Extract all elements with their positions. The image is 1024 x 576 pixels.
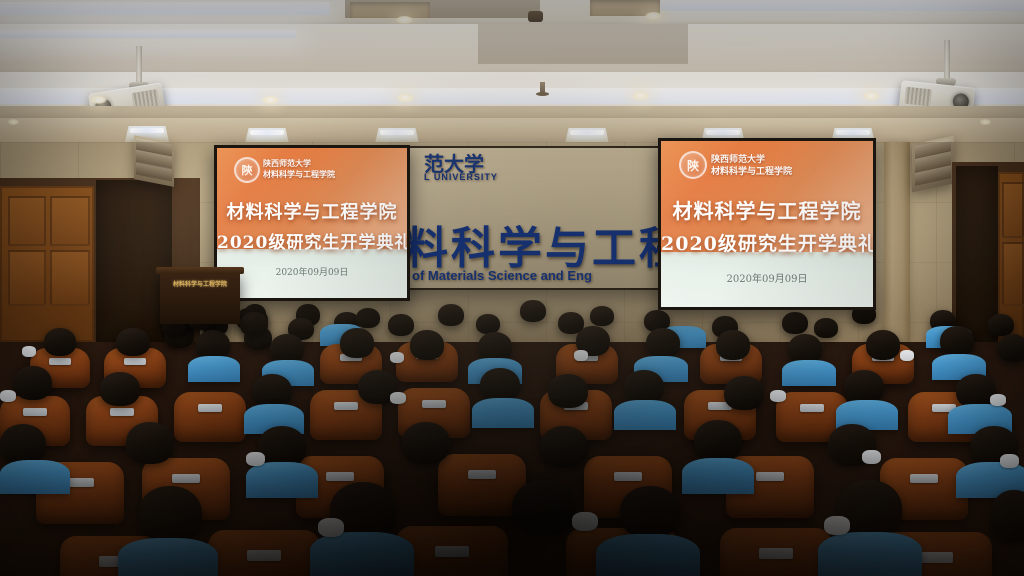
attendee-head	[814, 318, 838, 338]
slide-title-line1: 材料科学与工程学院	[217, 198, 407, 224]
slide-title-line1: 材料科学与工程学院	[661, 195, 873, 224]
face-mask	[390, 392, 406, 404]
university-seal-icon: 陝	[234, 157, 260, 183]
sconce-glow-left	[8, 119, 19, 125]
slide-title-line2: 2020级研究生开学典礼	[217, 228, 407, 253]
right-projection-screen: 陝 陕西师范大学 材料科学与工程学院 材料科学与工程学院 2020级研究生开学典…	[658, 138, 876, 310]
seat-number-plate	[247, 550, 281, 561]
face-mask	[990, 394, 1006, 406]
slide-department-name: 材料科学与工程学院	[711, 164, 792, 177]
ceiling-coffer-a	[350, 2, 430, 18]
attendee-head	[988, 314, 1014, 336]
attendee-head	[520, 300, 546, 322]
ceiling-downlight-3	[397, 94, 414, 102]
attendee-head	[240, 312, 268, 336]
seat-number-plate	[334, 402, 358, 410]
attendee-head	[782, 312, 808, 334]
face-mask	[246, 452, 265, 466]
podium-top-edge	[156, 267, 244, 274]
attendee-head	[252, 374, 292, 408]
sprinkler-icon	[540, 82, 545, 93]
ceiling-strip-light-1	[0, 2, 330, 15]
attendee-head	[402, 422, 450, 464]
attendee-head	[116, 328, 150, 356]
seat-number-plate	[198, 404, 222, 412]
attendee-head	[126, 422, 174, 464]
attendee-shoulders	[782, 360, 836, 386]
seat-number-plate	[435, 546, 469, 557]
seat-number-plate	[49, 358, 71, 365]
seat-number-plate	[919, 552, 953, 563]
seat-number-plate	[326, 472, 354, 481]
auditorium-photo: 范大学 L UNIVERSITY 料科学与工程学 of Materials Sc…	[0, 0, 1024, 576]
attendee-head	[548, 374, 588, 408]
attendee-head	[138, 486, 202, 542]
slide-date: 2020年09月09日	[661, 270, 873, 285]
attendee-head	[716, 330, 750, 360]
lectern-podium[interactable]: 材料科学与工程学院	[160, 272, 240, 324]
seat-number-plate	[910, 474, 938, 483]
attendee-head	[356, 308, 380, 328]
ceiling-downlight-a	[396, 16, 413, 24]
ceiling-downlight-2	[262, 96, 279, 104]
attendee-head	[540, 426, 588, 468]
attendee-head	[998, 334, 1024, 362]
attendee-head	[590, 306, 614, 326]
attendee-head	[844, 370, 884, 404]
attendee-shoulders	[596, 534, 700, 576]
seat-number-plate	[110, 408, 134, 416]
attendee-head	[940, 326, 974, 356]
attendee-head	[724, 376, 764, 410]
seat-number-plate	[66, 478, 94, 487]
ceiling-downlight-1	[90, 96, 107, 104]
ceiling-strip-light-2	[640, 0, 1024, 11]
ceiling-strip-light-3	[0, 30, 296, 38]
attendee-head	[340, 328, 374, 358]
seat-number-plate	[759, 548, 793, 559]
attendee-head	[866, 330, 900, 360]
face-mask	[824, 516, 850, 535]
ceiling-downlight-4	[632, 92, 649, 100]
attendee-shoulders	[0, 460, 70, 494]
attendee-head	[694, 420, 742, 462]
attendee-shoulders	[682, 458, 754, 494]
projector-mount-pole-right	[944, 40, 950, 80]
ceiling-downlight-5	[863, 92, 880, 100]
seat-number-plate	[800, 404, 824, 412]
slide-department-name: 材料科学与工程学院	[263, 169, 335, 180]
seat-number-plate	[23, 408, 47, 416]
attendee-shoulders	[246, 462, 318, 498]
projector-mount-pole-left	[136, 46, 142, 84]
seat-number-plate	[614, 472, 642, 481]
attendee-head	[620, 486, 680, 538]
attendee-head	[100, 372, 140, 406]
slide-university-name: 陕西师范大学	[263, 158, 311, 169]
wall-calligraphy-en-overlay: of Materials Science and Eng	[412, 268, 592, 283]
seat-number-plate	[124, 358, 146, 365]
seat-number-plate	[756, 472, 784, 481]
face-mask	[1000, 454, 1019, 468]
attendee-head	[44, 328, 76, 356]
podium-sign-text: 材料科学与工程学院	[160, 279, 240, 288]
attendee-head	[646, 328, 680, 358]
attendee-shoulders	[614, 400, 676, 430]
attendee-head	[410, 330, 444, 360]
left-slide: 陝 陕西师范大学 材料科学与工程学院 材料科学与工程学院 2020级研究生开学典…	[217, 148, 407, 298]
seat-number-plate	[172, 474, 200, 483]
attendee-shoulders	[472, 398, 534, 428]
ceiling-downlight-b	[645, 12, 662, 20]
face-mask	[770, 390, 786, 402]
attendee-head	[990, 490, 1024, 542]
slide-date: 2020年09月09日	[217, 265, 407, 278]
attendee-head	[14, 366, 52, 400]
attendee-head	[438, 304, 464, 326]
seat[interactable]	[174, 392, 246, 442]
projector-vent-icon	[904, 87, 932, 107]
seat-number-plate	[422, 400, 446, 408]
attendee-head	[512, 480, 576, 536]
attendee-shoulders	[118, 538, 218, 576]
attendee-head	[624, 370, 664, 404]
face-mask	[22, 346, 36, 357]
attendee-head	[388, 314, 414, 336]
right-slide: 陝 陕西师范大学 材料科学与工程学院 材料科学与工程学院 2020级研究生开学典…	[661, 141, 873, 307]
attendee-shoulders	[188, 356, 240, 382]
face-mask	[862, 450, 881, 464]
university-seal-icon: 陝	[679, 151, 707, 179]
attendee-shoulders	[818, 532, 922, 576]
face-mask	[572, 512, 598, 531]
smoke-detector-icon	[528, 11, 543, 22]
face-mask	[390, 352, 404, 363]
face-mask	[318, 518, 344, 537]
wall-calligraphy-top-en-overlay: L UNIVERSITY	[424, 172, 498, 182]
ceiling-recess-2	[478, 24, 688, 64]
attendee-shoulders	[310, 532, 414, 576]
face-mask	[574, 350, 588, 361]
seat[interactable]	[208, 530, 320, 576]
slide-title-line2: 2020级研究生开学典礼	[661, 229, 873, 256]
attendee-head	[480, 368, 520, 402]
seat-number-plate	[468, 470, 496, 479]
audience-seating	[0, 300, 1024, 576]
seat[interactable]	[720, 528, 832, 576]
face-mask	[0, 390, 16, 402]
sconce-glow-right	[980, 119, 991, 125]
attendee-head	[0, 424, 46, 464]
attendee-head	[476, 314, 500, 334]
face-mask	[900, 350, 914, 361]
left-projection-screen: 陝 陕西师范大学 材料科学与工程学院 材料科学与工程学院 2020级研究生开学典…	[214, 145, 410, 301]
